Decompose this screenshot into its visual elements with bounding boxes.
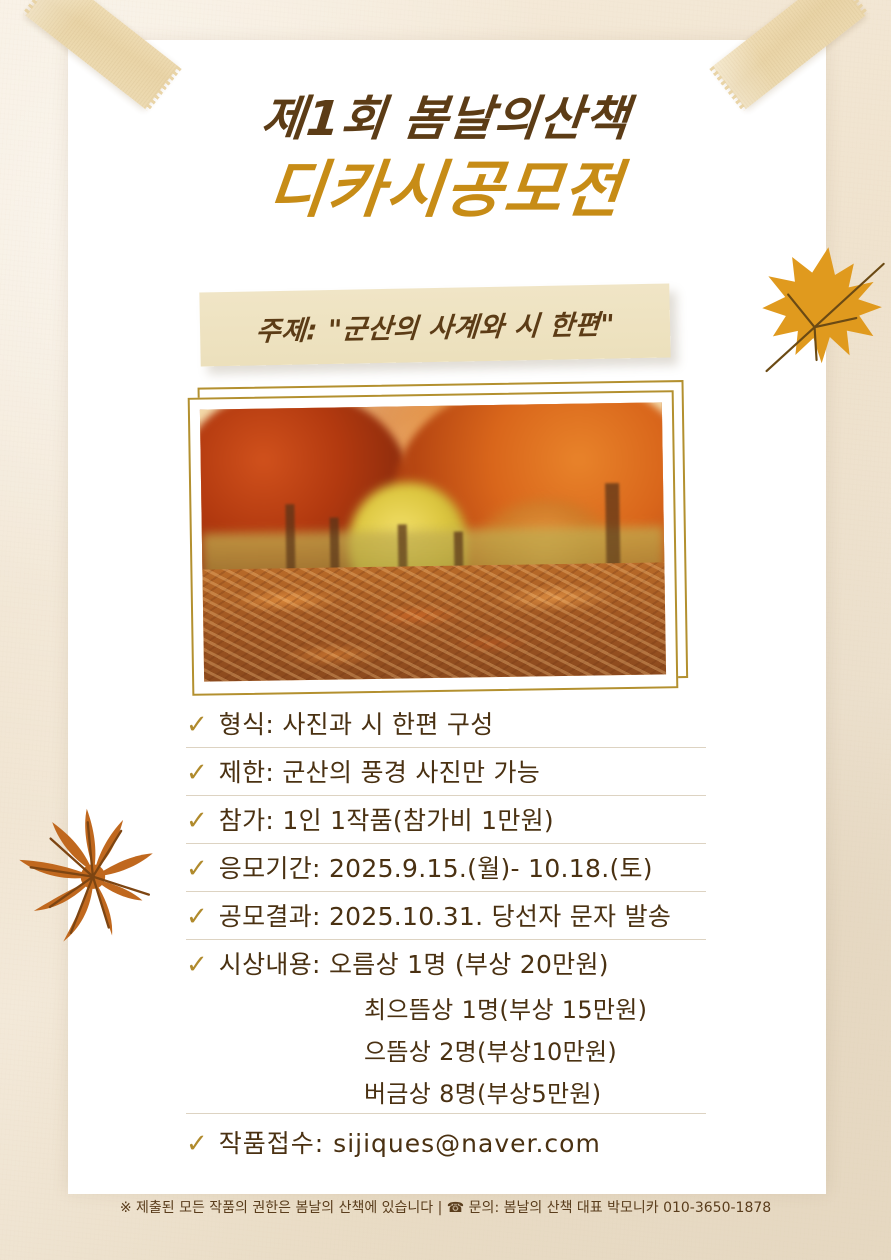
title-line-2: 디카시공모전 [0, 153, 891, 227]
check-icon: ✓ [186, 1131, 208, 1157]
award-item: 최으뜸상 1명(부상 15만원) [186, 987, 706, 1029]
detail-row-restriction: ✓ 제한: 군산의 풍경 사진만 가능 [186, 748, 706, 796]
theme-text: 주제: "군산의 사계와 시 한편" [254, 302, 615, 348]
award-text: 버금상 8명(부상5만원) [364, 1074, 601, 1109]
detail-text: 참가: 1인 1작품(참가비 1만원) [219, 801, 554, 837]
torn-paper-edge [68, 1168, 826, 1194]
submission-email-text[interactable]: 작품접수: sijiques@naver.com [219, 1124, 601, 1160]
detail-text: 공모결과: 2025.10.31. 당선자 문자 발송 [219, 897, 671, 933]
detail-row-awards: ✓ 시상내용: 오름상 1명 (부상 20만원) [186, 940, 706, 987]
award-item: 으뜸상 2명(부상10만원) [186, 1029, 706, 1071]
award-item: 버금상 8명(부상5만원) [186, 1071, 706, 1113]
footer-text: ※ 제출된 모든 작품의 권한은 봄날의 산책에 있습니다 | ☎ 문의: 봄날… [120, 1200, 771, 1216]
title-line-1: 제1회 봄날의산책 [0, 92, 891, 147]
photo-frame [184, 388, 683, 698]
detail-row-entry-fee: ✓ 참가: 1인 1작품(참가비 1만원) [186, 796, 706, 844]
maple-leaf-icon [13, 793, 174, 963]
photo-fallen-leaves-ground [202, 562, 666, 681]
theme-banner: 주제: "군산의 사계와 시 한편" [199, 283, 670, 366]
check-icon: ✓ [186, 712, 208, 738]
detail-row-submission: ✓ 작품접수: sijiques@naver.com [186, 1113, 706, 1166]
detail-text: 제한: 군산의 풍경 사진만 가능 [219, 753, 540, 789]
detail-text: 응모기간: 2025.9.15.(월)- 10.18.(토) [219, 849, 653, 885]
footer-notice: ※ 제출된 모든 작품의 권한은 봄날의 산책에 있습니다 | ☎ 문의: 봄날… [0, 1197, 891, 1217]
check-icon: ✓ [186, 760, 208, 786]
poster-title: 제1회 봄날의산책 디카시공모전 [0, 92, 891, 228]
award-text: 최으뜸상 1명(부상 15만원) [364, 990, 647, 1025]
detail-row-results: ✓ 공모결과: 2025.10.31. 당선자 문자 발송 [186, 892, 706, 940]
detail-row-format: ✓ 형식: 사진과 시 한편 구성 [186, 700, 706, 748]
details-list: ✓ 형식: 사진과 시 한편 구성 ✓ 제한: 군산의 풍경 사진만 가능 ✓ … [186, 700, 706, 1166]
check-icon: ✓ [186, 904, 208, 930]
check-icon: ✓ [186, 856, 208, 882]
check-icon: ✓ [186, 808, 208, 834]
award-text: 으뜸상 2명(부상10만원) [364, 1032, 617, 1067]
maple-leaf-icon [747, 231, 891, 394]
detail-row-period: ✓ 응모기간: 2025.9.15.(월)- 10.18.(토) [186, 844, 706, 892]
awards-heading: 시상내용: 오름상 1명 (부상 20만원) [219, 945, 609, 981]
check-icon: ✓ [186, 952, 208, 978]
autumn-forest-photo [200, 402, 666, 681]
detail-text: 형식: 사진과 시 한편 구성 [219, 705, 494, 741]
